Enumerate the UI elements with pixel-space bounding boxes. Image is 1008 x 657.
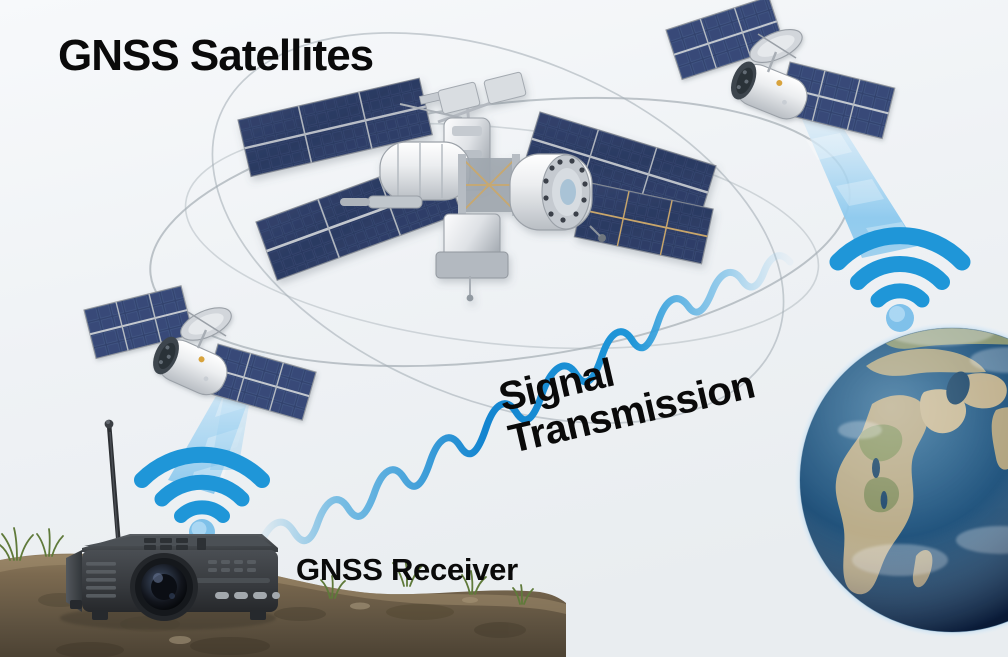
station-module-left [380, 142, 470, 200]
gnss-receiver-label: GNSS Receiver [296, 553, 518, 586]
illustration-canvas: GNSS Satellites SignalTransmission GNSS … [0, 0, 1008, 657]
receiver-lens [130, 553, 198, 621]
page-title: GNSS Satellites [58, 32, 373, 80]
